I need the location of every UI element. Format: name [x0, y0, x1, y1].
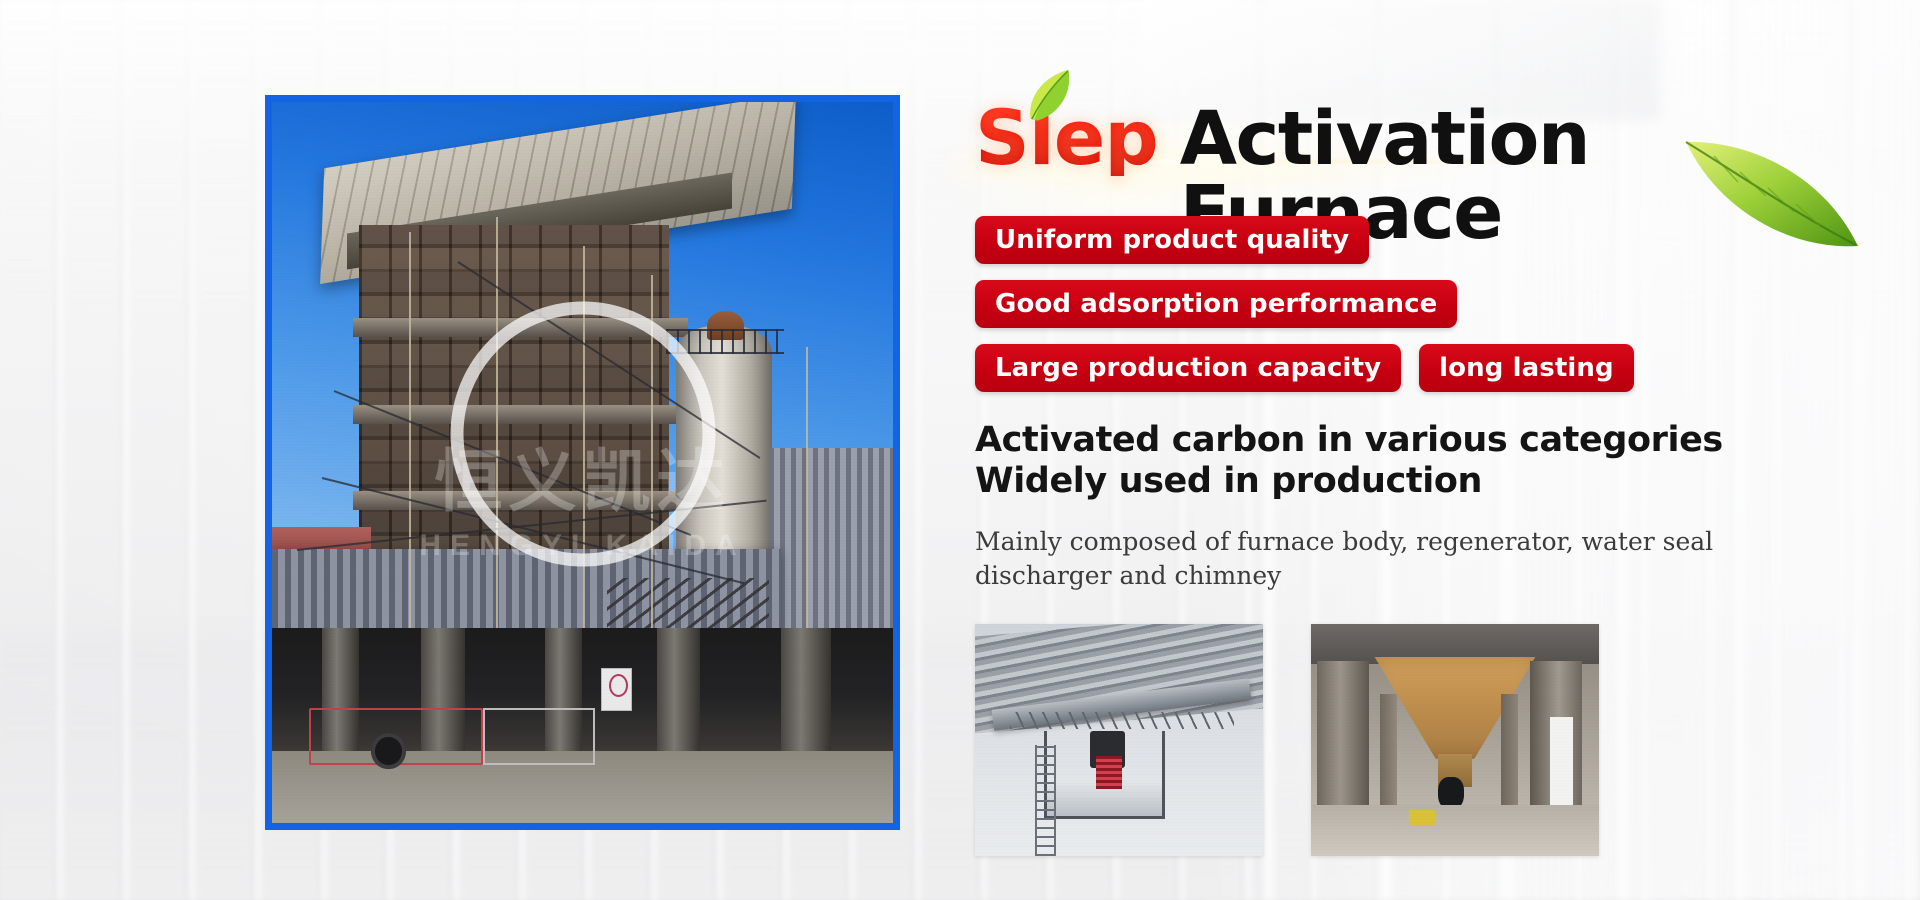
headline-line-2: Widely used in production — [975, 461, 1805, 502]
badge-large-production-capacity[interactable]: Large production capacity — [975, 344, 1401, 392]
thumb2-yellow-equipment — [1409, 810, 1435, 826]
thumb2-doorway — [1550, 717, 1573, 810]
product-banner: 恒义凯达 HENGYI KAIDA Slep Activation Furnac… — [0, 0, 1920, 900]
watermark-ring — [450, 301, 715, 566]
photo-scaffold-pole — [409, 232, 411, 665]
headline-line-1: Activated carbon in various categories — [975, 420, 1805, 461]
feature-badges: Uniform product quality Good adsorption … — [975, 216, 1775, 392]
thumbnail-concrete-hall[interactable] — [1311, 624, 1599, 856]
photo-corrugated-wall — [769, 448, 893, 650]
thumbnail-overhead-crane[interactable] — [975, 624, 1263, 856]
thumb1-red-chain — [1096, 756, 1122, 788]
headline: Activated carbon in various categories W… — [975, 420, 1805, 501]
thumbnail-gallery — [975, 624, 1805, 856]
photo-warning-sign — [601, 668, 632, 711]
photo-cart-wheel — [371, 733, 405, 769]
banner-content: Slep Activation Furnace — [975, 100, 1805, 856]
badge-uniform-product-quality[interactable]: Uniform product quality — [975, 216, 1369, 264]
main-product-photo[interactable]: 恒义凯达 HENGYI KAIDA — [265, 95, 900, 830]
thumb2-floor — [1311, 805, 1599, 856]
description-text: Mainly composed of furnace body, regener… — [975, 525, 1735, 592]
main-photo-content: 恒义凯达 HENGYI KAIDA — [272, 102, 893, 823]
photo-scaffold-pole — [806, 347, 808, 664]
photo-cart-rail — [483, 708, 595, 766]
thumb1-ladder — [1035, 745, 1055, 856]
banner-title: Slep Activation Furnace — [975, 100, 1805, 186]
thumb1-roof-truss — [1010, 712, 1235, 728]
badge-good-adsorption-performance[interactable]: Good adsorption performance — [975, 280, 1457, 328]
badge-long-lasting[interactable]: long lasting — [1419, 344, 1634, 392]
